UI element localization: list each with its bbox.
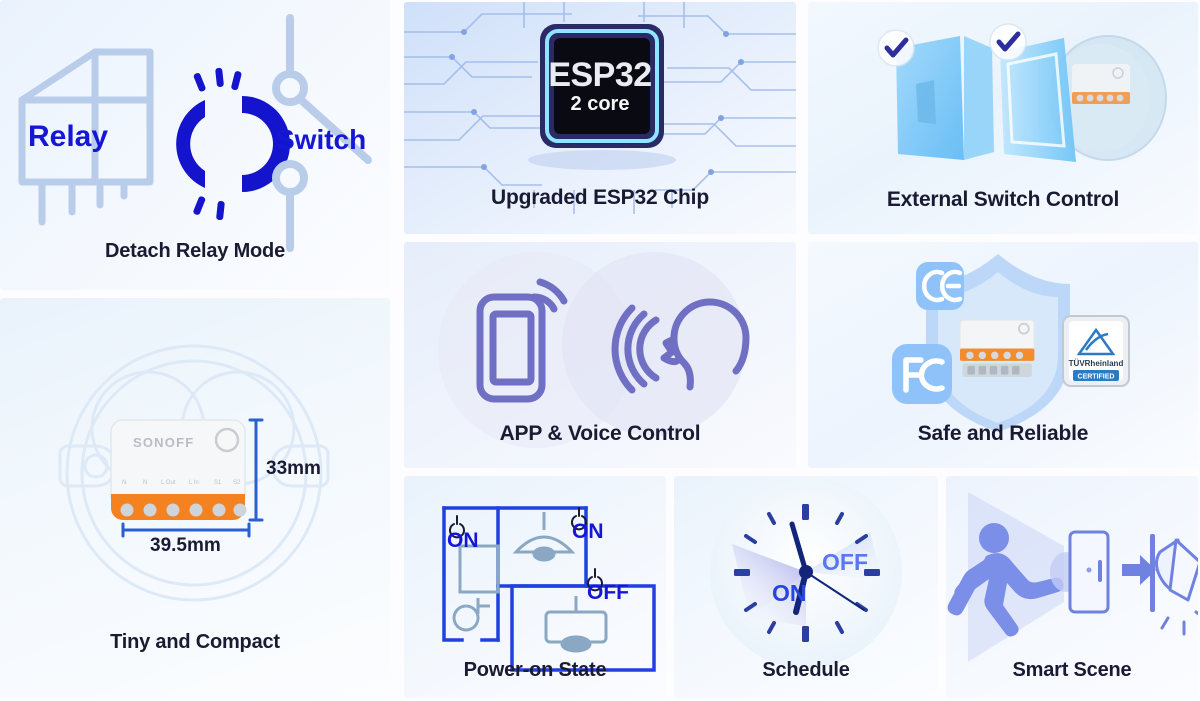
relay-box-icon	[22, 52, 150, 182]
schedule-on-label: ON	[772, 580, 807, 607]
feature-card-power-on[interactable]: ON ON OFF Power-on State	[404, 476, 666, 698]
svg-text:N: N	[122, 480, 126, 486]
card-caption-external-switch: External Switch Control	[808, 188, 1198, 212]
floor-lamp-icon	[454, 546, 498, 630]
check-icon	[878, 30, 914, 66]
feature-card-schedule[interactable]: ON OFF Schedule	[674, 476, 938, 698]
switch-label: Switch	[276, 124, 366, 156]
device-module-icon	[1072, 64, 1130, 104]
card-caption-safe-reliable: Safe and Reliable	[808, 422, 1198, 446]
chip-shadow	[528, 150, 676, 170]
feature-card-safe-reliable[interactable]: TÜVRheinland CERTIFIED Safe and Reliable	[808, 242, 1198, 468]
card-caption-detach-relay: Detach Relay Mode	[0, 240, 390, 263]
power-state-label-2: ON	[572, 520, 604, 544]
power-state-label-1: ON	[447, 529, 479, 553]
tuv-certified-text: CERTIFIED	[1078, 374, 1115, 381]
card-caption-esp32: Upgraded ESP32 Chip	[404, 186, 796, 210]
wall-light-icon	[1150, 534, 1198, 634]
card-caption-app-voice: APP & Voice Control	[404, 422, 796, 446]
relay-label: Relay	[28, 120, 108, 154]
width-dimension-label: 39.5mm	[150, 535, 221, 557]
feature-card-external-switch[interactable]: External Switch Control	[808, 2, 1198, 234]
device-module-icon	[960, 320, 1034, 377]
feature-card-smart-scene[interactable]: Smart Scene	[946, 476, 1198, 698]
feature-card-tiny-compact[interactable]: SONOFF NN L OutL In S1S2 33mm 39.5mm Tin…	[0, 298, 390, 698]
card-caption-schedule: Schedule	[674, 659, 938, 682]
card-caption-smart-scene: Smart Scene	[946, 659, 1198, 682]
height-dimension-label: 33mm	[266, 458, 321, 480]
feature-card-esp32[interactable]: ESP32 2 core Upgraded ESP32 Chip	[404, 2, 796, 234]
device-brand-label: SONOFF	[133, 435, 194, 450]
svg-text:N: N	[143, 480, 147, 486]
power-state-label-3: OFF	[587, 581, 629, 605]
tuv-badge: TÜVRheinland CERTIFIED	[1063, 316, 1129, 386]
svg-text:L In: L In	[189, 480, 199, 486]
tuv-badge-text: TÜVRheinland	[1069, 359, 1124, 368]
svg-text:S1: S1	[214, 480, 222, 486]
card-caption-power-on: Power-on State	[404, 659, 666, 682]
feature-grid: Relay Switch Detach Relay Mode	[0, 0, 1200, 701]
chip-name-label: ESP32	[404, 56, 796, 95]
schedule-off-label: OFF	[822, 549, 868, 576]
feature-card-detach-relay[interactable]: Relay Switch Detach Relay Mode	[0, 0, 390, 290]
feature-card-app-voice[interactable]: APP & Voice Control	[404, 242, 796, 468]
check-icon	[990, 24, 1026, 60]
card-caption-tiny-compact: Tiny and Compact	[0, 631, 390, 654]
svg-text:L Out: L Out	[161, 480, 176, 486]
bubble-right	[562, 252, 746, 436]
relay-pins-icon	[42, 182, 124, 222]
svg-text:S2: S2	[233, 480, 241, 486]
chip-cores-label: 2 core	[404, 93, 796, 116]
fcc-badge	[892, 344, 952, 404]
ce-badge	[916, 262, 964, 310]
ceiling-lamp-icon	[516, 512, 572, 560]
